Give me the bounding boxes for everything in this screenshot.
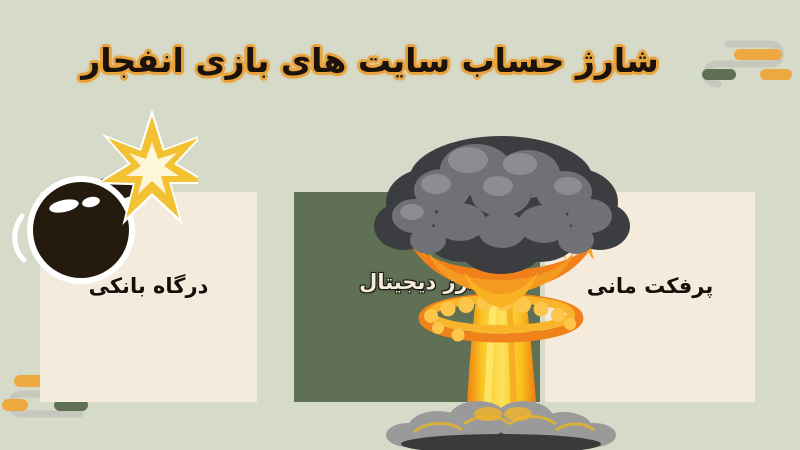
motion-swoosh	[15, 216, 24, 260]
pill-orange-2	[760, 69, 792, 80]
bomb-body	[33, 182, 129, 278]
poster-canvas: شارژ حساب سایت های بازی انفجار درگاه بان…	[0, 0, 800, 450]
page-title: شارژ حساب سایت های بازی انفجار	[0, 42, 740, 80]
pill-orange	[734, 49, 782, 60]
pill-orange-2	[2, 399, 28, 411]
nuclear-explosion-illustration	[368, 132, 638, 450]
cartoon-bomb-icon	[8, 108, 198, 292]
explosion-debris-base	[386, 401, 616, 450]
